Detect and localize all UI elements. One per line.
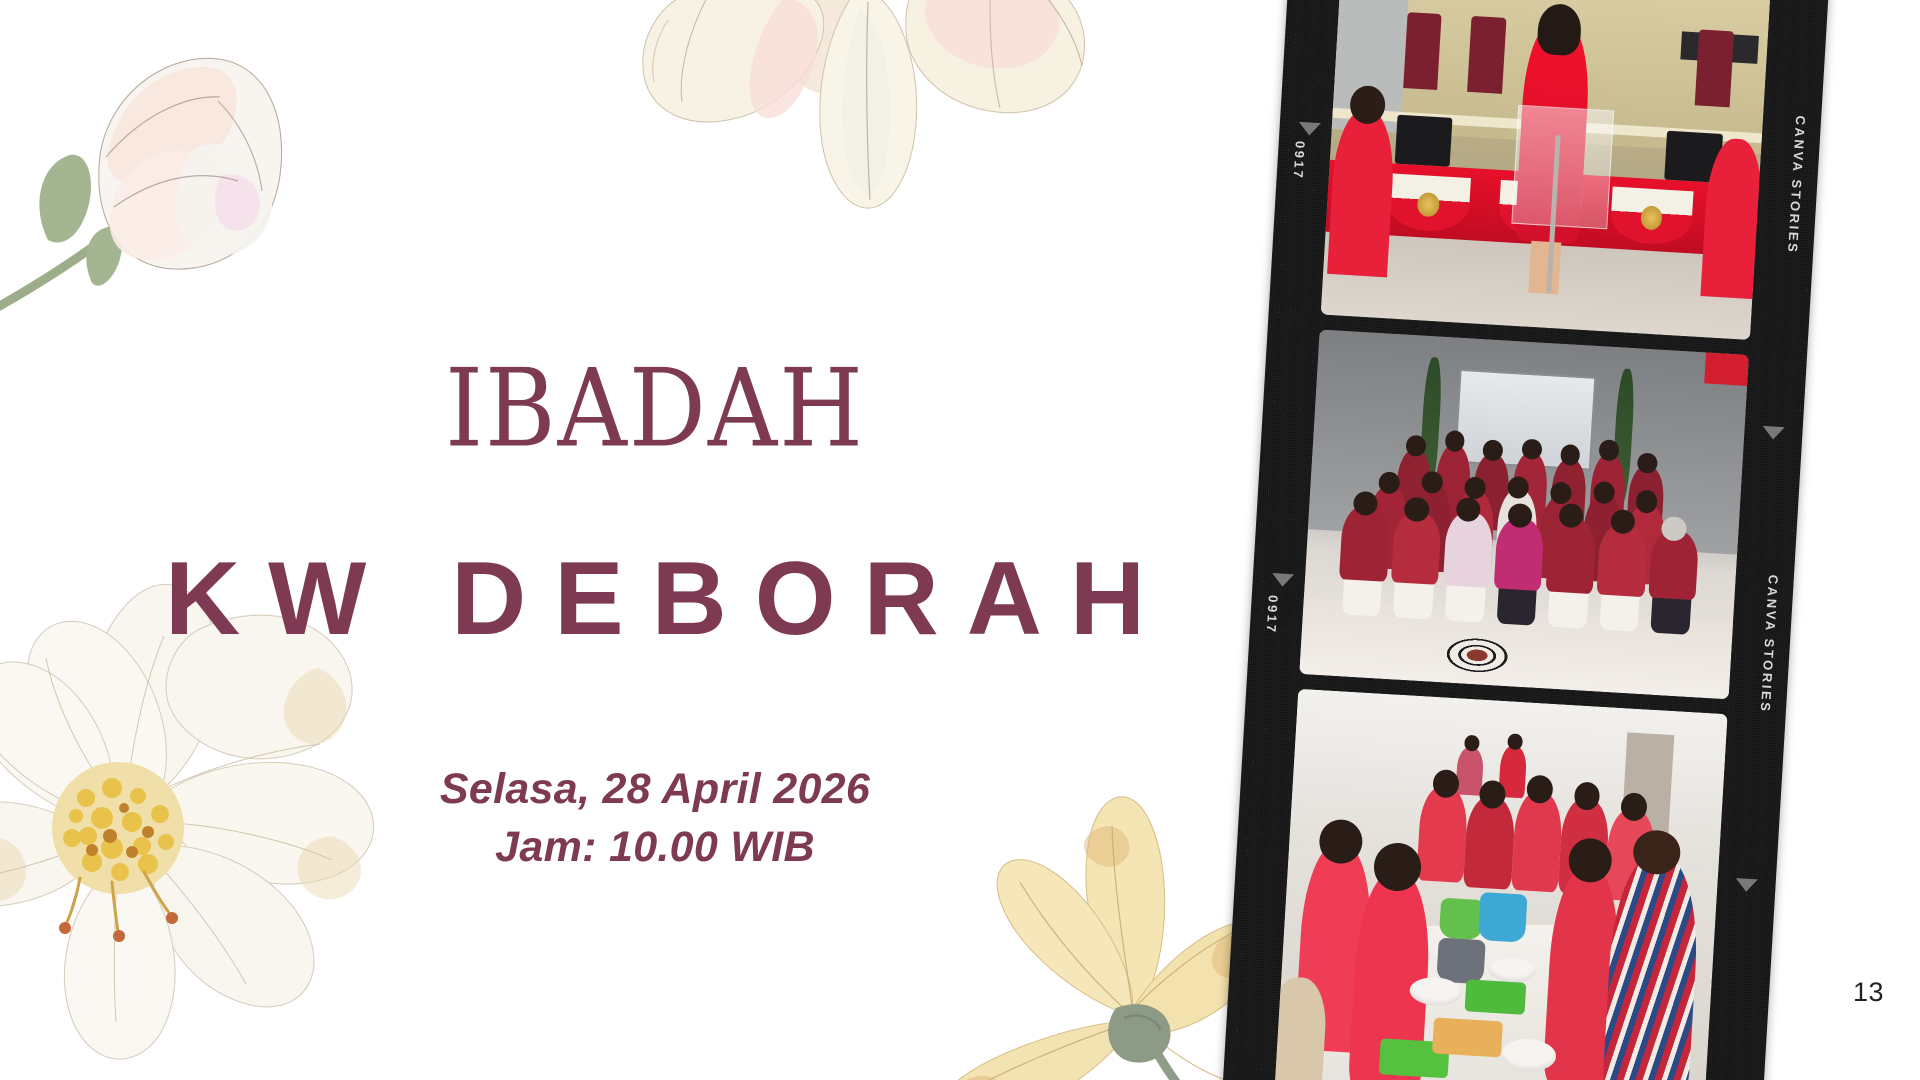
watercolor-cream-petals-icon	[560, 0, 1160, 290]
photo-scene-speaker	[1321, 0, 1771, 340]
film-edge-code-top: 0917	[1291, 141, 1308, 181]
film-sprocket-marker	[1735, 878, 1758, 892]
film-sprocket-marker	[1298, 122, 1321, 136]
watercolor-white-cosmos-flower-icon	[0, 560, 440, 1080]
event-details: Selasa, 28 April 2026 Jam: 10.00 WIB	[0, 760, 1310, 876]
film-edge-brand-top: CANVA STORIES	[1785, 115, 1808, 255]
film-sprocket-marker	[1762, 426, 1785, 440]
event-time: Jam: 10.00 WIB	[0, 818, 1310, 876]
film-photo-meal	[1275, 689, 1728, 1080]
text-content-block: IBADAH KW DEBORAH Selasa, 28 April 2026 …	[0, 0, 1310, 1080]
watercolor-yellow-flower-icon	[880, 760, 1260, 1080]
photo-scene-group	[1299, 329, 1749, 699]
page-title-main: KW DEBORAH	[0, 545, 1310, 654]
watercolor-blush-rose-bud-icon	[0, 35, 300, 325]
film-edge-code-bottom: 0917	[1264, 595, 1281, 635]
film-sprocket-marker	[1271, 573, 1294, 587]
film-photo-speaker	[1321, 0, 1771, 340]
photo-scene-meal	[1275, 689, 1728, 1080]
page-title-script: IBADAH	[0, 355, 1310, 463]
event-date: Selasa, 28 April 2026	[0, 760, 1310, 818]
slide-canvas: IBADAH KW DEBORAH Selasa, 28 April 2026 …	[0, 0, 1920, 1080]
film-edge-brand-bottom: CANVA STORIES	[1758, 574, 1781, 714]
page-number: 13	[1853, 977, 1884, 1008]
filmstrip-body: 0917 0917 CANVA STORIES CANVA STORIES	[1220, 0, 1829, 1080]
film-photo-group	[1299, 329, 1749, 699]
photo-filmstrip: 0917 0917 CANVA STORIES CANVA STORIES	[1220, 0, 1829, 1080]
